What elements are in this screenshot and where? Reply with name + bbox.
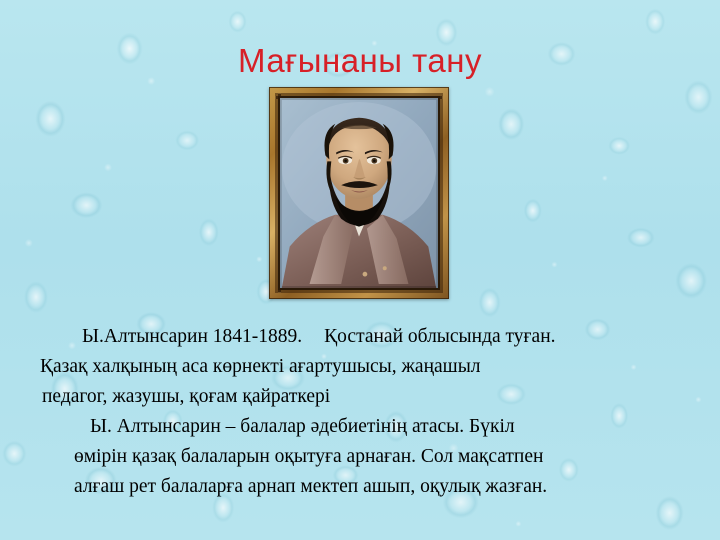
text-line-4: Ы. Алтынсарин – балалар әдебиетінің атас… [0,412,720,442]
slide-title: Мағынаны тану [0,42,720,80]
text-line-1: Ы.Алтынсарин 1841-1889.Қостанай облысынд… [0,322,720,352]
text-line-5: өмірін қазақ балаларын оқытуға арнаған. … [0,442,720,472]
portrait-photo-altynsarin [278,96,440,290]
body-text-block: Ы.Алтынсарин 1841-1889.Қостанай облысынд… [0,322,720,502]
portrait-illustration [280,98,438,288]
text-line-1-part-b: Қостанай облысында туған. [324,326,555,347]
presentation-slide: Мағынаны тану [0,0,720,540]
text-line-6: алғаш рет балаларға арнап мектеп ашып, о… [0,472,720,502]
text-line-2: Қазақ халқының аса көрнекті ағартушысы, … [0,352,720,382]
portrait-frame [269,87,449,299]
text-line-3: педагог, жазушы, қоғам қайраткері [0,382,720,412]
text-line-1-part-a: Ы.Алтынсарин 1841-1889. [82,326,302,347]
